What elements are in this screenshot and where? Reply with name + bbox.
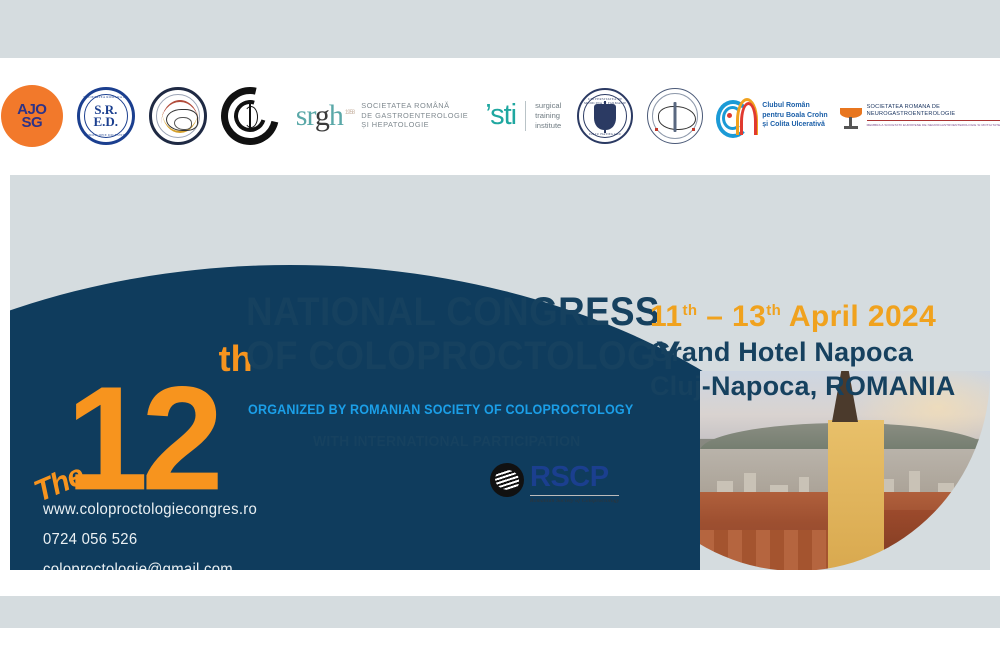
endoscope-icon — [674, 102, 677, 132]
contact-phone[interactable]: 0724 056 526 — [43, 525, 257, 555]
neurogastro-line-2: NEUROGASTROENTEROLOGIE — [867, 111, 1000, 119]
romania-map-seal-icon — [647, 88, 703, 144]
logo-srgh: srgh1958 SOCIETATEA ROMÂNĂ DE GASTROENTE… — [296, 101, 468, 131]
crohn-line-2: pentru Boala Crohn — [762, 111, 827, 121]
neurogastro-stem — [849, 117, 852, 126]
logo-romanian-surgeons: 1898 — [214, 87, 286, 145]
umf-ring-bottom-text: IULIU HATIEGANU — [579, 132, 631, 136]
page-root: AJOSG SOCIETATEA ROMANA DE S.R.E.D. ENDO… — [0, 0, 1000, 654]
rscp-tagline: Romanian Society of Coloproctology — [530, 495, 619, 504]
srgh-society-name: SOCIETATEA ROMÂNĂ DE GASTROENTEROLOGIE Ș… — [361, 101, 468, 130]
neurogastro-line-1: SOCIETATEA ROMANA DE — [867, 104, 1000, 112]
srgh-wordmark: srgh1958 — [296, 101, 354, 131]
neurogastro-icon — [840, 103, 862, 129]
umf-snake-icon — [598, 105, 614, 129]
edition-number: 12th — [66, 353, 251, 513]
page-title: NATIONAL CONGRESS OF COLOPROCTOLOGY — [246, 290, 681, 378]
ajosg-icon: AJOSG — [1, 85, 63, 147]
srgh-line-3: ȘI HEPATOLOGIE — [361, 120, 468, 130]
logo-neurogastroenterologie: SOCIETATEA ROMANA DE NEUROGASTROENTEROLO… — [840, 103, 1000, 129]
congress-dates: 11th – 13th April 2024 — [650, 293, 956, 335]
srgh-line-2: DE GASTROENTEROLOGIE — [361, 111, 468, 121]
map-dot-left — [655, 128, 658, 131]
crohn-line-3: și Colita Ulcerativă — [762, 120, 827, 130]
logo-ajosg: AJOSG — [0, 85, 70, 147]
neurogastro-name: SOCIETATEA ROMANA DE NEUROGASTROENTEROLO… — [867, 104, 1000, 127]
crohn-dot — [727, 113, 732, 118]
surgeons-year: 1898 — [221, 139, 279, 143]
congress-venue: Grand Hotel Napoca — [650, 335, 956, 369]
sti-line-3: institute — [535, 121, 561, 131]
logo-sred: SOCIETATEA ROMANA DE S.R.E.D. ENDOSCOPIE… — [70, 87, 142, 145]
logo-crohn-club: Clubul Român pentru Boala Crohn și Colit… — [716, 96, 827, 136]
neurogastro-base — [844, 126, 858, 129]
congress-city: Cluj-Napoca, ROMANIA — [650, 369, 956, 403]
contact-website[interactable]: www.coloproctologiecongres.ro — [43, 495, 257, 525]
srgh-line-1: SOCIETATEA ROMÂNĂ — [361, 101, 468, 111]
sred-seal-icon: SOCIETATEA ROMANA DE S.R.E.D. ENDOSCOPIE… — [77, 87, 135, 145]
title-line-2: OF COLOPROCTOLOGY — [246, 334, 681, 378]
sti-line-2: training — [535, 111, 561, 121]
sti-wordmark: ’sti — [485, 101, 516, 130]
rscp-mark-icon — [490, 463, 524, 497]
crohn-club-icon — [716, 96, 756, 136]
logo-liver-society — [142, 87, 214, 145]
logo-sti: ’sti surgical training institute — [485, 101, 561, 131]
rscp-wordmark: RSCP — [530, 463, 619, 492]
liver-seal-icon — [149, 87, 207, 145]
sred-ring-bottom-text: ENDOSCOPIE DIGESTIVA — [84, 133, 127, 137]
sponsor-logo-strip: AJOSG SOCIETATEA ROMANA DE S.R.E.D. ENDO… — [0, 58, 1000, 173]
asclepius-snake-icon — [244, 106, 258, 128]
banner-card: AJOSG SOCIETATEA ROMANA DE S.R.E.D. ENDO… — [0, 58, 1000, 596]
umf-seal-icon: UNIVERSITATEA DE MEDICINA SI FARMACIE IU… — [577, 88, 633, 144]
srgh-year: 1958 — [345, 110, 354, 116]
ajosg-initials: AJOSG — [17, 103, 46, 129]
title-line-1: NATIONAL CONGRESS — [246, 290, 681, 334]
liver-organ-lobe — [174, 117, 192, 130]
sti-subtitle: surgical training institute — [535, 101, 561, 131]
sti-divider — [525, 101, 526, 131]
sred-initials: S.R.E.D. — [94, 104, 119, 128]
sred-ring-top-text: SOCIETATEA ROMANA DE — [83, 95, 128, 99]
participation-line: WITH INTERNATIONAL PARTICIPATION — [313, 433, 580, 450]
logo-romania-map — [640, 88, 710, 144]
neurogastro-rule — [867, 120, 1000, 121]
map-dot-right — [692, 128, 695, 131]
neurogastro-sub: MEMBRA A SOCIETATII EUROPENE DE NEUROGAS… — [867, 123, 1000, 128]
contact-block: www.coloproctologiecongres.ro 0724 056 5… — [43, 495, 273, 570]
congress-banner: The 12th NATIONAL CONGRESS OF COLOPROCTO… — [10, 175, 990, 570]
sti-line-1: surgical — [535, 101, 561, 111]
logo-umf: UNIVERSITATEA DE MEDICINA SI FARMACIE IU… — [570, 88, 640, 144]
congress-month-year: April 2024 — [789, 300, 936, 333]
crohn-club-name: Clubul Român pentru Boala Crohn și Colit… — [762, 101, 827, 130]
crohn-line-1: Clubul Român — [762, 101, 827, 111]
bottom-white-strip — [0, 628, 1000, 654]
date-venue-block: 11th – 13th April 2024 Grand Hotel Napoc… — [650, 293, 956, 403]
srgh-g-glyph: g — [315, 99, 329, 132]
organized-by-line: ORGANIZED BY ROMANIAN SOCIETY OF COLOPRO… — [248, 402, 633, 417]
contact-email[interactable]: coloproctologie@gmail.com — [43, 555, 257, 570]
rscp-logo: RSCP Romanian Society of Coloproctology — [490, 463, 619, 504]
rscp-text: RSCP Romanian Society of Coloproctology — [530, 463, 619, 504]
surgeons-seal-icon: 1898 — [221, 87, 279, 145]
